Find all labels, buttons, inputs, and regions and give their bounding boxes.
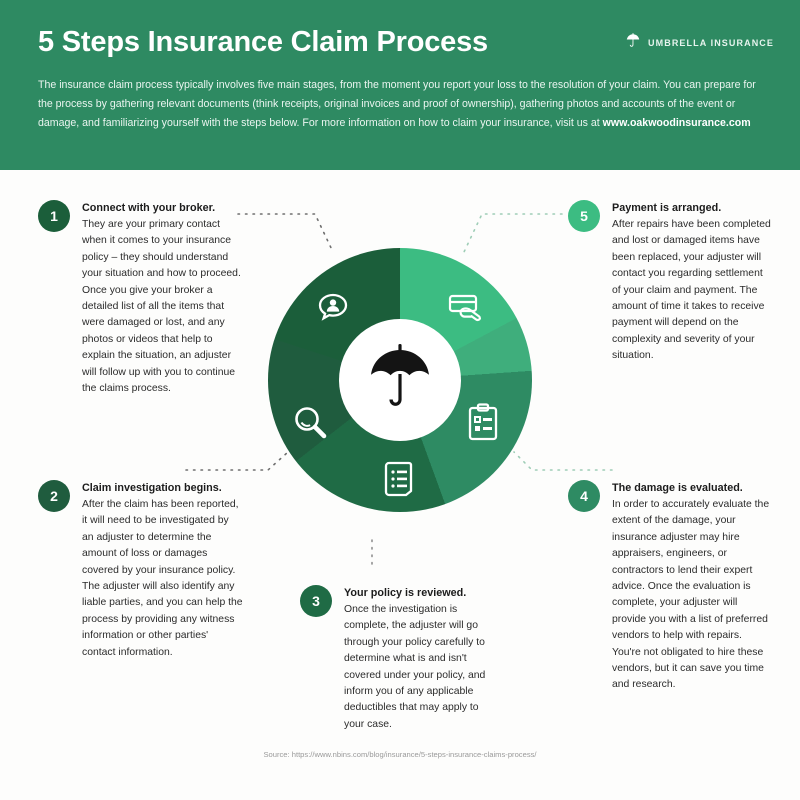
step-block-3: 3 Your policy is reviewed. Once the inve… [300,585,495,733]
brand-logo: UMBRELLA INSURANCE [625,32,774,54]
connector-step-1 [238,214,333,252]
chat-person-icon [310,286,356,332]
header-banner: 5 Steps Insurance Claim Process UMBRELLA… [0,0,800,170]
step-title-5: Payment is arranged. [612,200,773,216]
step-title-4: The damage is evaluated. [612,480,773,496]
umbrella-icon [364,340,436,421]
step-text-5: After repairs have been completed and lo… [612,217,773,365]
brand-name: UMBRELLA INSURANCE [648,38,774,48]
source-citation[interactable]: Source: https://www.nbins.com/blog/insur… [0,750,800,759]
header-description: The insurance claim process typically in… [38,76,766,133]
step-badge-3: 3 [300,585,332,617]
step-text-2: After the claim has been reported, it wi… [82,497,243,661]
step-block-5: 5 Payment is arranged. After repairs hav… [568,200,773,365]
umbrella-icon [625,32,641,54]
header-website-link[interactable]: www.oakwoodinsurance.com [603,117,751,129]
step-badge-1: 1 [38,200,70,232]
step-text-3: Once the investigation is complete, the … [344,602,495,733]
process-donut-chart [268,248,532,512]
page-title: 5 Steps Insurance Claim Process [38,26,488,59]
card-payment-icon [444,286,490,332]
document-list-icon [376,456,422,502]
step-block-1: 1 Connect with your broker. They are you… [38,200,243,397]
step-badge-2: 2 [38,480,70,512]
donut-center [339,319,461,441]
connector-step-5 [464,214,562,252]
step-title-2: Claim investigation begins. [82,480,243,496]
step-text-1: They are your primary contact when it co… [82,217,243,397]
step-title-1: Connect with your broker. [82,200,243,216]
step-block-4: 4 The damage is evaluated. In order to a… [568,480,773,694]
step-text-4: In order to accurately evaluate the exte… [612,497,773,694]
infographic-page: 5 Steps Insurance Claim Process UMBRELLA… [0,0,800,800]
step-badge-4: 4 [568,480,600,512]
step-title-3: Your policy is reviewed. [344,585,495,601]
step-block-2: 2 Claim investigation begins. After the … [38,480,243,661]
magnifier-icon [288,400,334,446]
step-badge-5: 5 [568,200,600,232]
clipboard-icon [460,400,506,446]
